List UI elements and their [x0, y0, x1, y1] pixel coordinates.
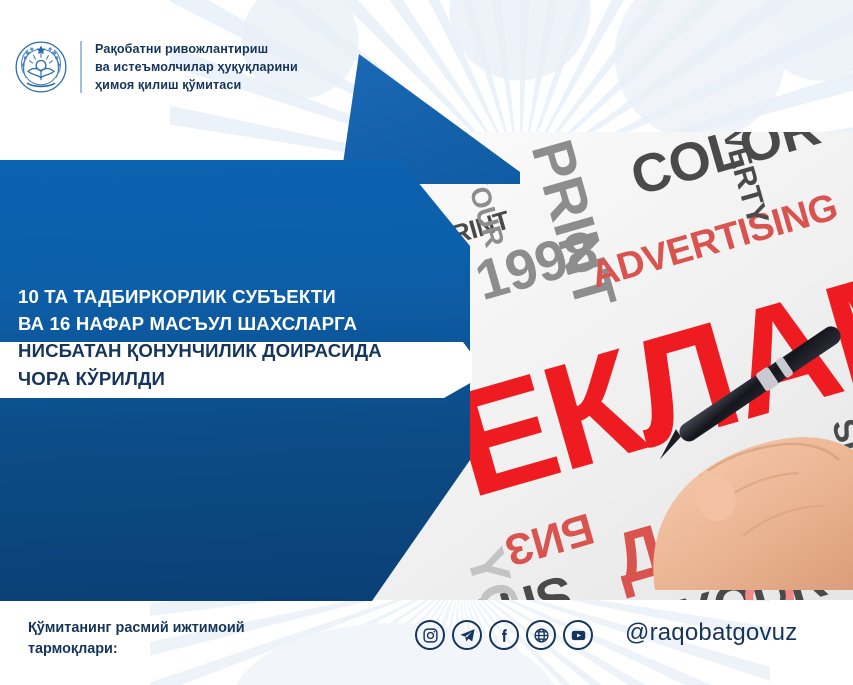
social-networks-label: Қўмитанинг расмий ижтимоий тармоқлари:: [28, 618, 245, 660]
uzbekistan-state-emblem-icon: [14, 40, 68, 94]
social-networks-label-line-1: Қўмитанинг расмий ижтимоий: [28, 618, 245, 639]
hand-with-pen: [583, 290, 853, 590]
youtube-icon[interactable]: [563, 620, 593, 650]
brand-lockup: Рақобатни ривожлантириш ва истеъмолчилар…: [14, 40, 298, 94]
organization-name-line-2: ва истеъмолчилар ҳуқуқларини: [95, 58, 298, 76]
headline-line-2: ВА 16 НАФАР МАСЪУЛ ШАХСЛАРГА: [18, 310, 458, 337]
website-globe-icon[interactable]: [526, 620, 556, 650]
social-networks-label-line-2: тармоқлари:: [28, 639, 245, 660]
telegram-icon[interactable]: [452, 620, 482, 650]
headline-line-4: ЧОРА КЎРИЛДИ: [18, 365, 458, 392]
headline-line-1: 10 ТА ТАДБИРКОРЛИК СУБЪЕКТИ: [18, 283, 458, 310]
headline-line-3: НИСБАТАН ҚОНУНЧИЛИК ДОИРАСИДА: [18, 337, 458, 364]
headline: 10 ТА ТАДБИРКОРЛИК СУБЪЕКТИ ВА 16 НАФАР …: [18, 283, 458, 392]
brand-divider: [80, 41, 82, 93]
poster-canvas: DESIGN ADVERTY PRINT YOUR 1998 PRINT COL…: [0, 0, 853, 685]
social-handle: @raqobatgovuz: [625, 619, 797, 647]
instagram-icon[interactable]: [415, 620, 445, 650]
social-links: [415, 620, 593, 650]
footer: Қўмитанинг расмий ижтимоий тармоқлари:: [0, 600, 853, 685]
facebook-icon[interactable]: [489, 620, 519, 650]
organization-name-line-1: Рақобатни ривожлантириш: [95, 40, 298, 58]
organization-name-line-3: ҳимоя қилиш қўмитаси: [95, 76, 298, 94]
organization-name: Рақобатни ривожлантириш ва истеъмолчилар…: [95, 40, 298, 94]
